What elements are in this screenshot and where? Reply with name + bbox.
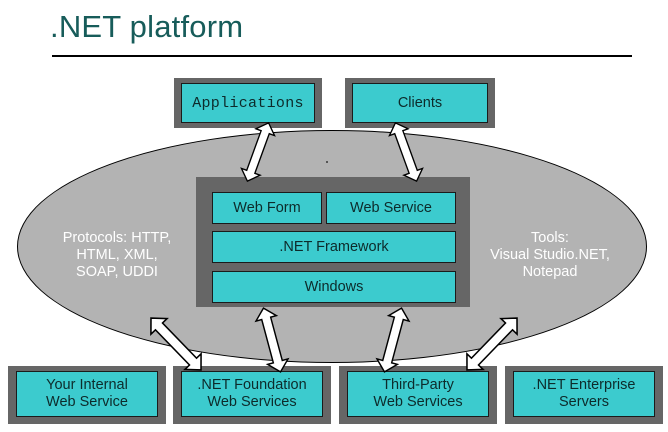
your-internal-web-service-box[interactable]: Your Internal Web Service xyxy=(16,371,158,417)
clients-box[interactable]: Clients xyxy=(352,83,488,123)
web-form-box[interactable]: Web Form xyxy=(212,192,322,224)
tools-label: Tools: Visual Studio.NET, Notepad xyxy=(470,230,630,281)
dotnet-foundation-web-services-box[interactable]: .NET Foundation Web Services xyxy=(181,371,323,417)
web-service-box[interactable]: Web Service xyxy=(326,192,456,224)
protocols-label: Protocols: HTTP, HTML, XML, SOAP, UDDI xyxy=(42,230,192,281)
speck-artifact xyxy=(326,161,328,163)
applications-box[interactable]: Applications xyxy=(181,83,315,123)
title-divider xyxy=(52,55,632,57)
page-title: .NET platform xyxy=(50,9,243,45)
dotnet-framework-box[interactable]: .NET Framework xyxy=(212,231,456,263)
third-party-web-services-box[interactable]: Third-Party Web Services xyxy=(347,371,489,417)
slide-canvas: .NET platform Protocols: HTTP, HTML, XML… xyxy=(0,0,668,432)
windows-box[interactable]: Windows xyxy=(212,271,456,303)
dotnet-enterprise-servers-box[interactable]: .NET Enterprise Servers xyxy=(513,371,655,417)
